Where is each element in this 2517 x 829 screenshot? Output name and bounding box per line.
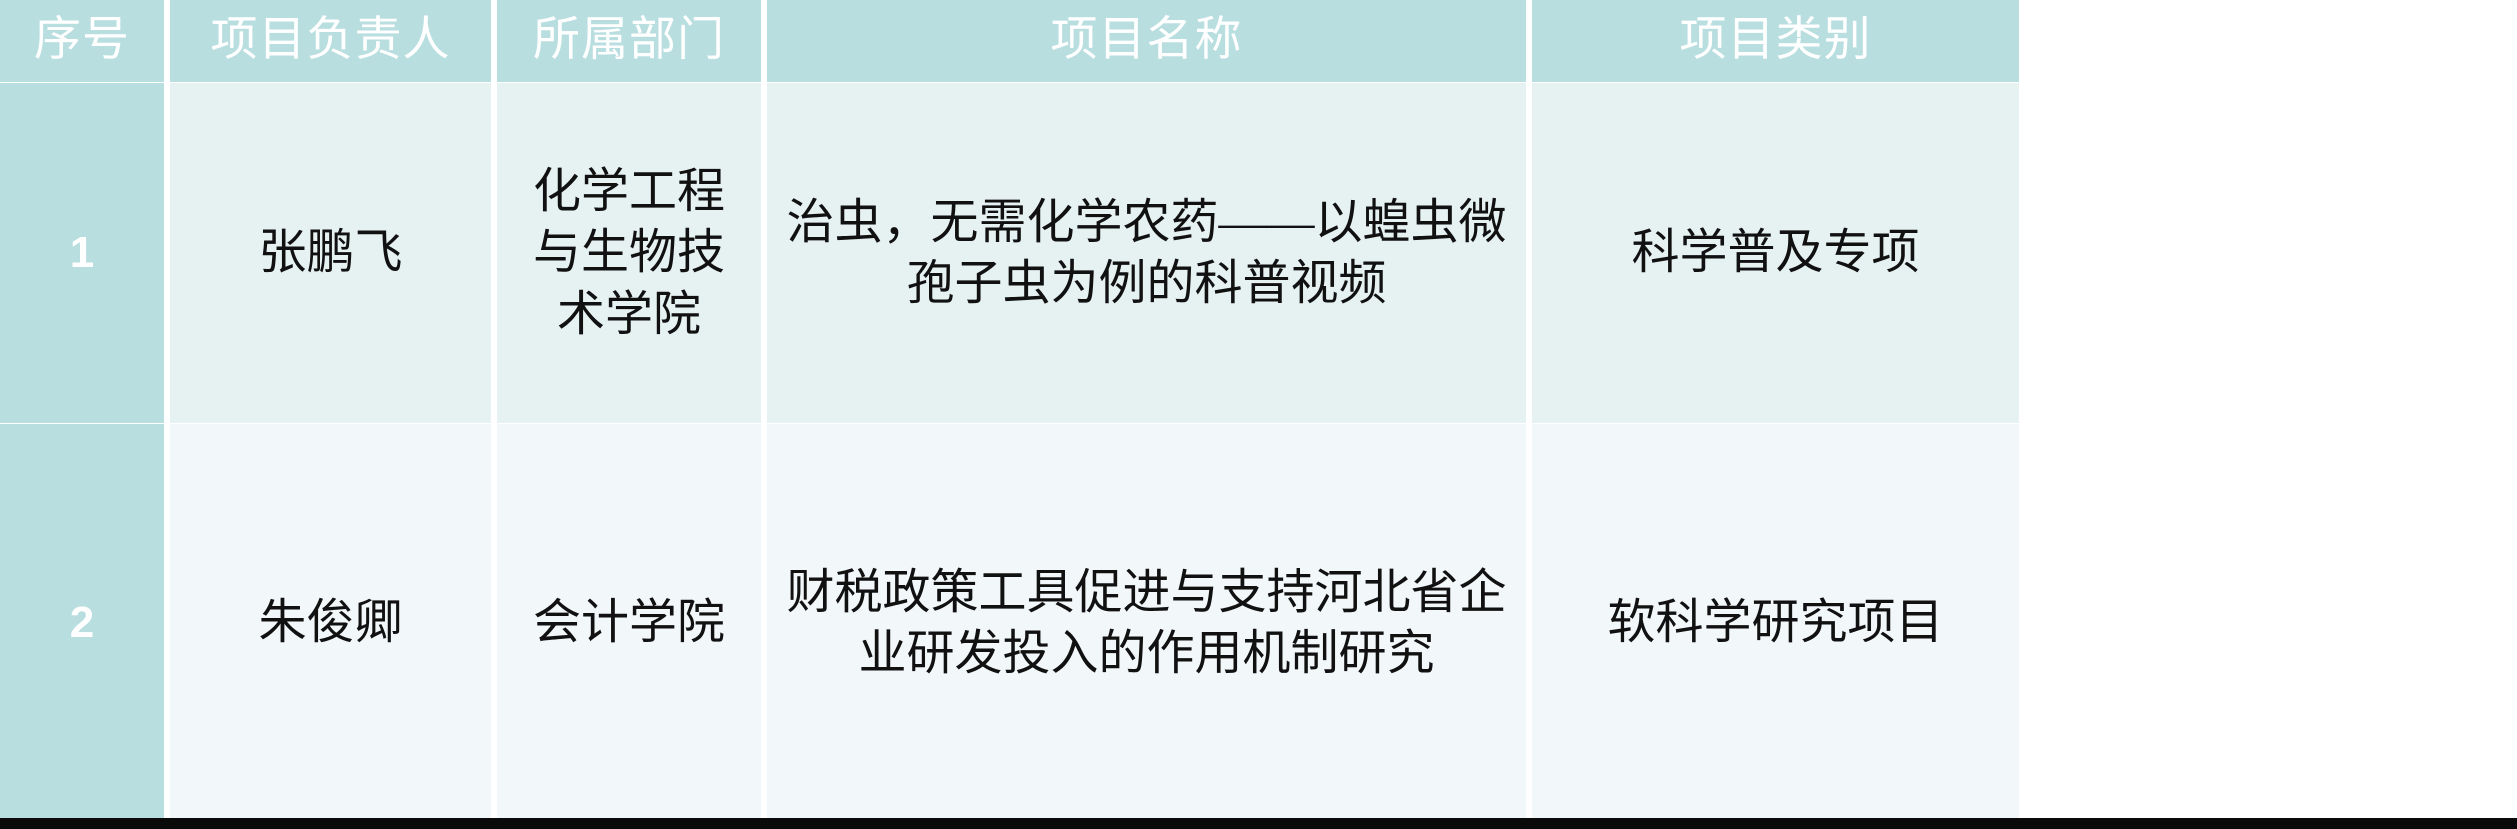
- column-header-leader-label: 项目负责人: [184, 15, 477, 67]
- table-row-1-project: 治虫，无需化学农药——以蝗虫微孢子虫为例的科普视频: [767, 83, 1532, 423]
- table-row-2-category: 软科学研究项目: [1532, 424, 2019, 822]
- table-row-1-category: 科学普及专项: [1532, 83, 2019, 423]
- column-header-project: 项目名称: [767, 0, 1532, 82]
- table-row-2-seq-value: 2: [14, 598, 150, 648]
- column-header-project-label: 项目名称: [781, 15, 1512, 67]
- table-row-1-seq-value: 1: [14, 228, 150, 278]
- table-row-2-dept: 会计学院: [497, 424, 767, 822]
- table-row-1-dept: 化学工程与生物技术学院: [497, 83, 767, 423]
- table-row-1-leader: 张鹏飞: [170, 83, 497, 423]
- table-row-1-category-value: 科学普及专项: [1546, 222, 2005, 283]
- column-header-dept: 所属部门: [497, 0, 767, 82]
- table-row-2-category-value: 软科学研究项目: [1546, 592, 2005, 653]
- column-header-seq-label: 序号: [14, 15, 150, 67]
- column-header-dept-label: 所属部门: [511, 15, 747, 67]
- table-row-2-project: 财税政策工具促进与支持河北省企业研发投入的作用机制研究: [767, 424, 1532, 822]
- column-header-category-label: 项目类别: [1546, 15, 2005, 67]
- table-row-1-project-value: 治虫，无需化学农药——以蝗虫微孢子虫为例的科普视频: [781, 192, 1512, 315]
- table-row-2-dept-value: 会计学院: [511, 592, 747, 653]
- table-row-1-dept-value: 化学工程与生物技术学院: [511, 161, 747, 345]
- table-row-2-leader-value: 朱俊卿: [184, 592, 477, 653]
- table-grid: 序号 项目负责人 所属部门 项目名称 项目类别 1 张鹏飞 化学工程与生物技术学…: [0, 0, 2517, 822]
- column-header-leader: 项目负责人: [170, 0, 497, 82]
- project-list-table: 序号 项目负责人 所属部门 项目名称 项目类别 1 张鹏飞 化学工程与生物技术学…: [0, 0, 2517, 829]
- table-row-2-seq: 2: [0, 424, 170, 822]
- table-row-2-project-value: 财税政策工具促进与支持河北省企业研发投入的作用机制研究: [781, 562, 1512, 685]
- column-header-category: 项目类别: [1532, 0, 2019, 82]
- table-row-2-leader: 朱俊卿: [170, 424, 497, 822]
- table-row-1-leader-value: 张鹏飞: [184, 222, 477, 283]
- table-row-1-seq: 1: [0, 83, 170, 423]
- column-header-seq: 序号: [0, 0, 170, 82]
- table-bottom-rule: [0, 818, 2517, 829]
